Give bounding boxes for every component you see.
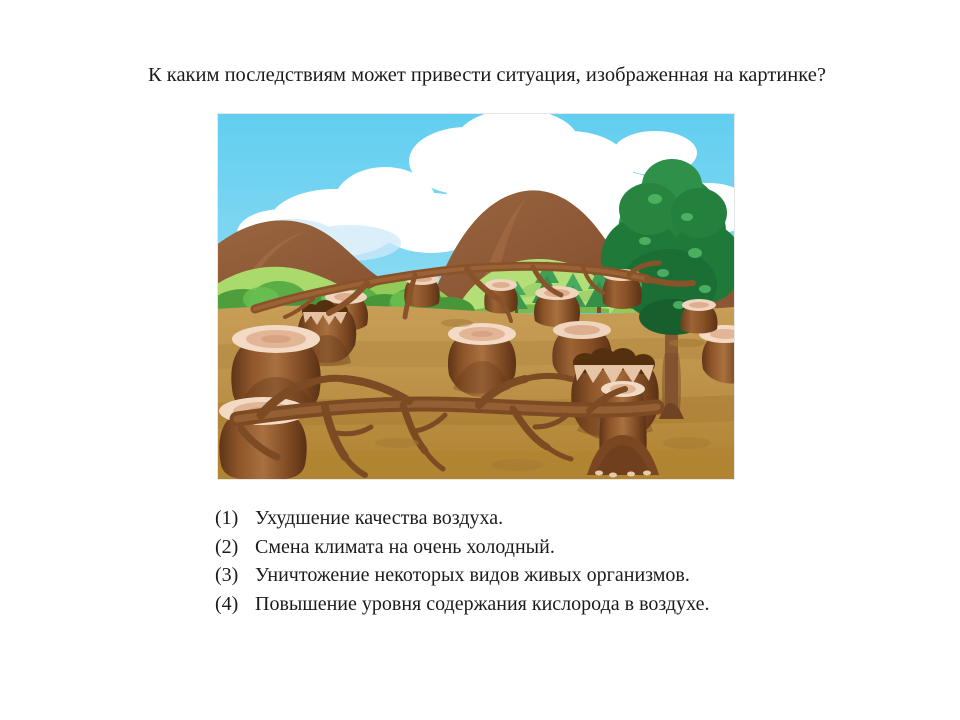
slide-root: К каким последствиям может привести ситу… bbox=[0, 0, 960, 720]
answer-option-3[interactable]: (3) Уничтожение некоторых видов живых ор… bbox=[215, 562, 915, 589]
option-number-2: (2) bbox=[215, 534, 255, 561]
answer-option-1[interactable]: (1) Ухудшение качества воздуха. bbox=[215, 505, 915, 532]
option-text-3: Уничтожение некоторых видов живых органи… bbox=[255, 562, 915, 589]
answer-option-2[interactable]: (2) Смена климата на очень холодный. bbox=[215, 534, 915, 561]
tree-stump-near-tree bbox=[680, 299, 717, 334]
deforestation-illustration bbox=[217, 113, 735, 480]
option-text-2: Смена климата на очень холодный. bbox=[255, 534, 915, 561]
option-text-1: Ухудшение качества воздуха. bbox=[255, 505, 915, 532]
option-number-3: (3) bbox=[215, 562, 255, 589]
option-number-4: (4) bbox=[215, 591, 255, 618]
question-text: К каким последствиям может привести ситу… bbox=[96, 60, 866, 90]
option-number-1: (1) bbox=[215, 505, 255, 532]
answer-option-4[interactable]: (4) Повышение уровня содержания кислород… bbox=[215, 591, 915, 618]
answer-options-list: (1) Ухудшение качества воздуха. (2) Смен… bbox=[215, 505, 915, 619]
option-text-4: Повышение уровня содержания кислорода в … bbox=[255, 591, 915, 618]
scene-svg bbox=[217, 113, 735, 480]
